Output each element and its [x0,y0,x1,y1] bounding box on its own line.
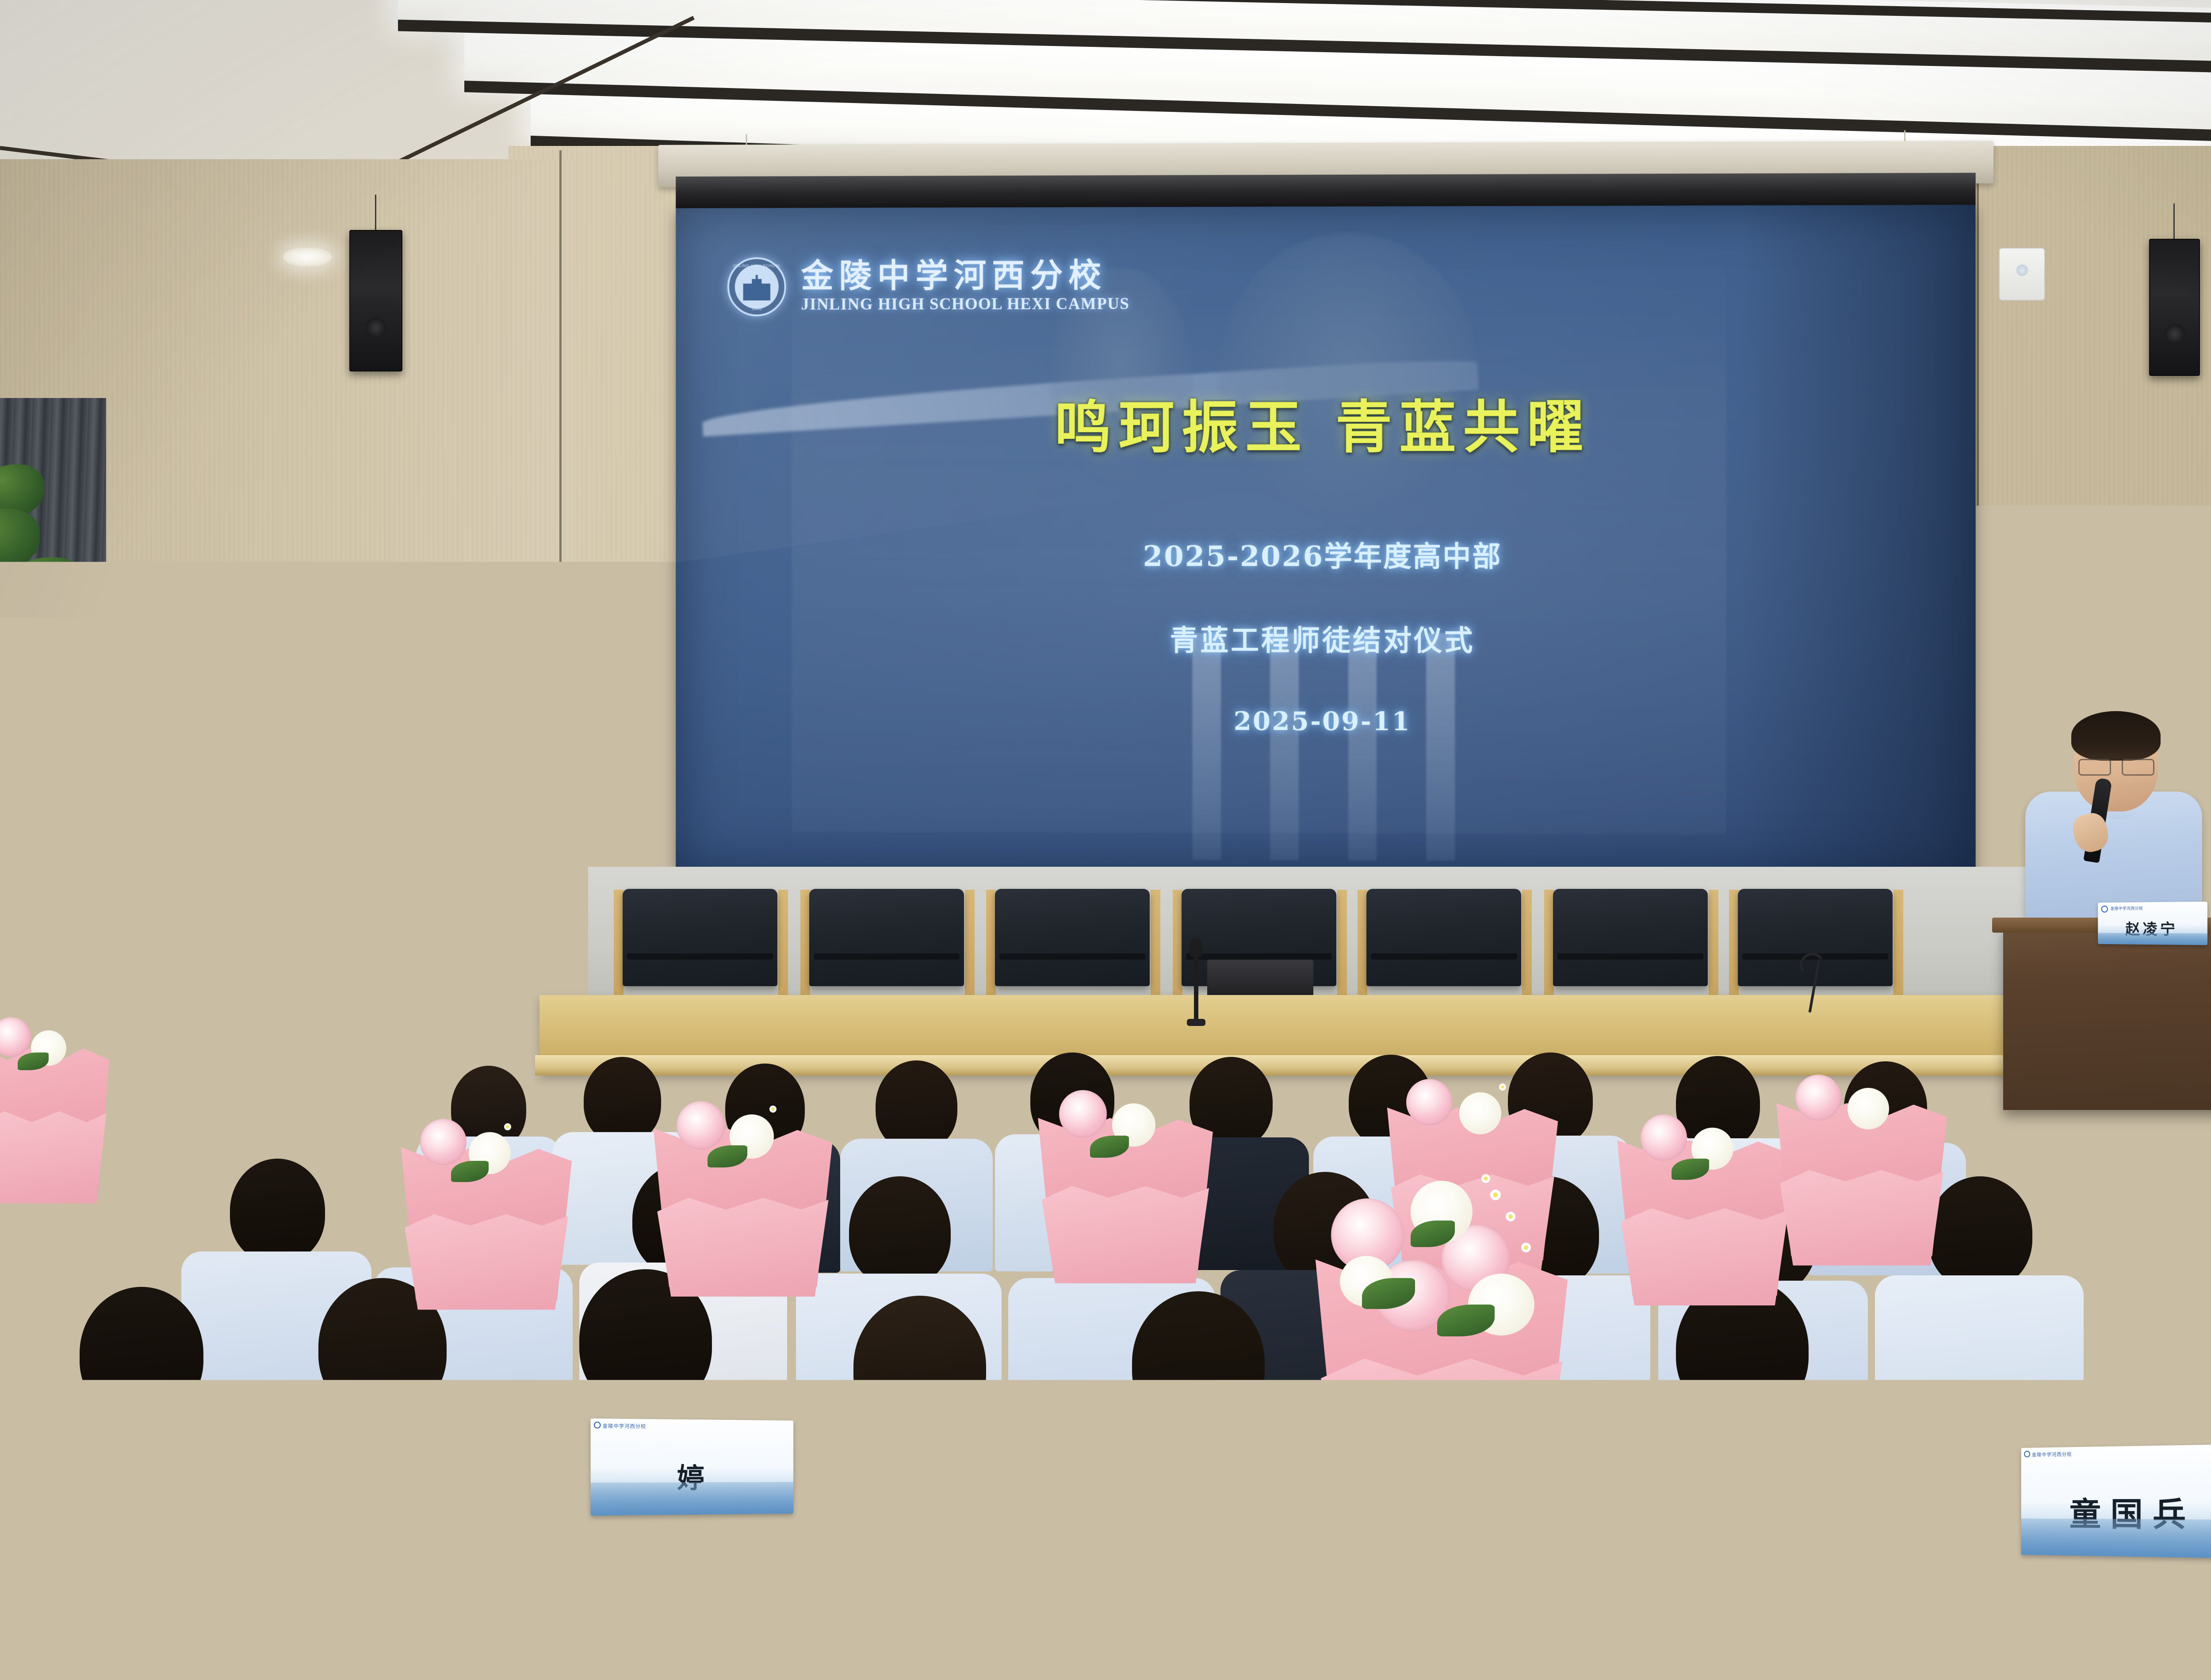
bouquet-wrap-inner [1780,1170,1943,1266]
flower-bouquet [394,1061,579,1300]
stage-chair[interactable] [1366,889,1521,986]
audience-head [853,1296,986,1437]
nameplate-wave-graphic [591,1482,793,1515]
wall-seam [1977,150,1979,991]
slide-bg-column [1270,633,1299,860]
crest-arc-bottom-text: 1888 [751,306,762,311]
bouquet-wrap-inner [1321,1359,1562,1500]
rose [1406,1079,1453,1125]
bouquet-wrap-inner [405,1214,568,1310]
slide-bg-column [1426,633,1455,860]
school-name-en: JINLING HIGH SCHOOL HEXI CAMPUS [801,294,1129,314]
flower-bouquet [646,1039,840,1287]
bouquet-wrap-inner [1042,1186,1209,1283]
laptop-screen [1576,1470,1917,1667]
wall-speaker-left [349,230,402,371]
nameplate-brand: 金陵中学河西分校 [603,1422,646,1430]
panel-vent [2051,653,2158,663]
stage-chair[interactable] [1553,889,1708,986]
nameplate-wave-graphic [2098,933,2207,945]
wall-sensor-panel [1999,248,2045,301]
projection-screen: JINLING HIGH SCHOOL 1888 金陵中学河西分校 JINLIN… [676,205,1976,875]
slide-logo-row: JINLING HIGH SCHOOL 1888 金陵中学河西分校 JINLIN… [727,256,1129,316]
flower-bouquet [0,964,115,1194]
daisy [1521,1243,1531,1252]
nameplate-crest-icon [1099,1410,1106,1417]
podium-nameplate: 金陵中学河西分校 赵凌宁 [2098,902,2207,945]
nameplate-crest-icon [2024,1451,2030,1458]
daisy [1490,1190,1501,1200]
nameplate-brand: 金陵中学河西分校 [1108,1410,1150,1418]
audience-head-foreground [248,1459,416,1583]
flower-bouquet [1030,1030,1220,1274]
mixer-led [327,867,333,873]
daisy [1481,1174,1490,1183]
panel-knob-switch[interactable] [2058,671,2072,684]
bouquet-wrap-inner [0,1111,107,1203]
auditorium-photo: JINLING HIGH SCHOOL 1888 金陵中学河西分校 JINLIN… [0,0,2211,1680]
white-rose [1848,1088,1889,1129]
laptop[interactable] [1565,1455,1928,1667]
slide-subtitle-academic-year: 2025-2026学年度高中部 [676,534,1976,575]
presenter-glasses [2078,759,2154,774]
nameplate-wave-graphic [1097,1440,1230,1461]
rose [1059,1090,1107,1138]
stage-chair[interactable] [995,889,1150,986]
status-led [272,974,278,980]
daisy [769,1106,777,1113]
white-rose [1459,1092,1501,1134]
ceiling-downlight [283,248,332,266]
slide-school-names: 金陵中学河西分校 JINLING HIGH SCHOOL HEXI CAMPUS [801,259,1129,314]
nameplate-wave-graphic [2021,1519,2211,1559]
school-name-cn: 金陵中学河西分校 [801,259,1129,292]
school-crest-icon: JINLING HIGH SCHOOL 1888 [727,257,786,317]
wall-seam [559,150,562,708]
potted-plant [0,455,203,1008]
slide-subtitle-date: 2025-09-11 [676,705,1976,738]
nameplate-brand: 金陵中学河西分校 [2032,1450,2072,1458]
rose [420,1119,467,1165]
crest-building-icon [743,275,770,301]
bouquet-wrap-inner [1621,1208,1788,1305]
speaker-cone-icon [366,318,386,338]
slide-subtitle-ceremony: 青蓝工程师徒结对仪式 [676,617,1976,659]
desk-nameplate-tongguobing: 金陵中学河西分校 童国兵 [2021,1444,2211,1558]
audience-head-foreground [999,1473,1185,1605]
webcam-icon [1744,1461,1749,1466]
flower-bouquet-foreground [1304,1132,1579,1486]
nameplate-crest-icon [2101,906,2108,913]
rose [1795,1075,1841,1121]
flower-bouquet [1769,1017,1955,1256]
speaker-cone-icon [2165,324,2185,344]
bouquet-wrap-inner [657,1198,828,1297]
status-led [237,974,243,980]
audience-body-foreground [902,1592,1282,1680]
audience-head [876,1060,957,1151]
nameplate-brand: 金陵中学河西分校 [2111,905,2143,911]
daisy [1499,1083,1506,1091]
desk-nameplate: 金陵中学河西分校 李 [1096,1405,1230,1460]
rose [1641,1114,1687,1161]
rose [677,1101,725,1150]
crest-inner [735,265,779,309]
slide-title: 鸣珂振玉 青蓝共曜 [676,396,1976,459]
stage-chair[interactable] [809,889,964,986]
mixer-led [317,868,323,873]
daisy [504,1123,511,1130]
red-indicator-light [2081,671,2094,684]
audience-head [849,1176,951,1287]
screen-top-bar [676,173,1976,208]
green-indicator-light [2103,671,2116,684]
audience-head [230,1159,325,1263]
rail-post [2087,1557,2108,1645]
daisy [1506,1212,1515,1221]
presenter-hair [2071,711,2161,761]
stage-chair[interactable] [623,889,777,986]
audience-body-foreground [155,1570,509,1680]
rail-post [752,1568,772,1656]
antenna [363,752,365,876]
wall-speaker-right [2149,239,2200,376]
projection-screen-assembly: JINLING HIGH SCHOOL 1888 金陵中学河西分校 JINLIN… [676,173,1976,876]
audience-head [80,1287,203,1420]
desk-nameplate-ting: 金陵中学河西分校 婷 [591,1419,793,1516]
slide-bg-column [1192,633,1221,860]
mixer-led [337,867,342,873]
slide-bg-column [1348,633,1377,860]
nameplate-crest-icon [594,1422,601,1428]
speaker-wire [2173,203,2175,241]
speaker-wire [375,195,376,232]
